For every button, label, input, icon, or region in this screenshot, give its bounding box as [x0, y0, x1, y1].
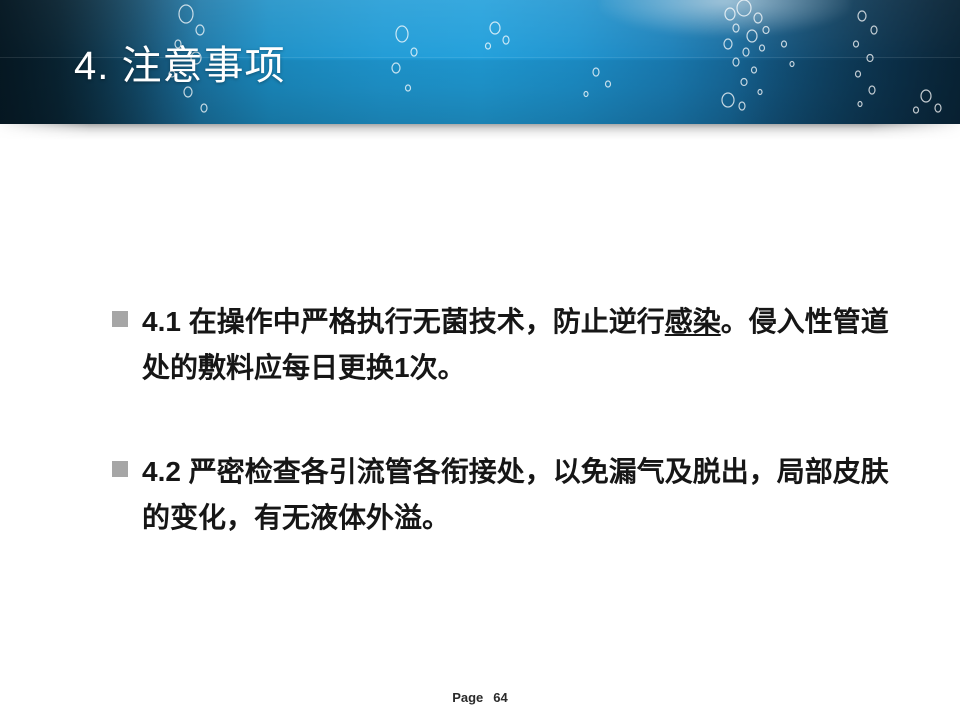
bullet-item-4-2: 4.2 严密检查各引流管各衔接处，以免漏气及脱出，局部皮肤的变化，有无液体外溢。	[112, 449, 902, 541]
footer: Page64	[0, 690, 960, 705]
page-title: 4. 注意事项	[74, 42, 285, 90]
bullet-4-1-line1-before: 4.1 在操作中严格执行无菌技术，防止逆行	[142, 306, 665, 337]
slide-body: 4.1 在操作中严格执行无菌技术，防止逆行感染。侵入性管道处的敷料应每日更换1次…	[0, 124, 960, 720]
bullet-text-4-2: 4.2 严密检查各引流管各衔接处，以免漏气及脱出，局部皮肤的变化，有无液体外溢。	[142, 449, 902, 541]
bullet-4-1-underlined-term: 感染	[665, 306, 721, 337]
bullet-item-4-1: 4.1 在操作中严格执行无菌技术，防止逆行感染。侵入性管道处的敷料应每日更换1次…	[112, 299, 902, 391]
bullet-4-2-line1-before: 4.2 严密检查各引流管各衔接处，以免漏气及脱出，	[142, 456, 777, 487]
page-label: Page	[452, 690, 483, 705]
bullet-text-4-1: 4.1 在操作中严格执行无菌技术，防止逆行感染。侵入性管道处的敷料应每日更换1次…	[142, 299, 902, 391]
square-bullet-icon	[112, 461, 128, 477]
slide-header-banner: 4. 注意事项	[0, 0, 960, 124]
bullet-4-1-line1-after: 。侵	[721, 306, 777, 337]
square-bullet-icon	[112, 311, 128, 327]
slide: 4. 注意事项 4.1 在操作中严格执行无菌技术，防止逆行感染。侵入性管道处的敷…	[0, 0, 960, 720]
page-number: 64	[493, 690, 507, 705]
